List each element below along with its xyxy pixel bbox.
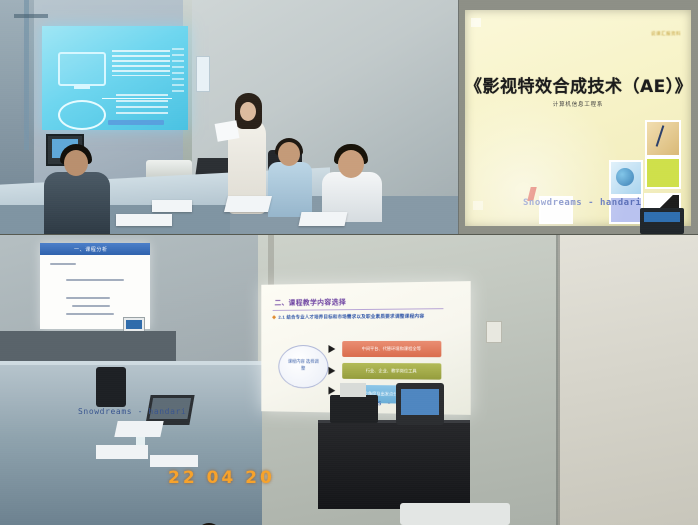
slide-side-text (172, 48, 184, 92)
projector-foreground (400, 503, 510, 525)
wall-right-lower (558, 235, 698, 525)
slide-line-1 (50, 263, 76, 265)
photo-collage: 说课汇报资料 《影视特效合成技术（AE）》 计算机信息工程系 Snowdream… (0, 0, 698, 525)
panel-divider-vertical (458, 0, 459, 235)
printer-device (330, 395, 378, 423)
person-man-white-head (338, 150, 364, 178)
magnifier-shape-icon (58, 100, 106, 130)
light-switch[interactable] (486, 321, 502, 343)
slide-line-5 (66, 313, 114, 315)
content-slide-circle-label: 课程内容 选择调整 (278, 345, 328, 389)
table-paper-6 (96, 445, 148, 459)
projection-screen-intro (42, 26, 188, 130)
crt-monitor-foreground (640, 208, 684, 234)
table-paper-4 (116, 214, 172, 226)
arrow-icon-3 (328, 387, 335, 395)
equipment-cabinet (318, 420, 470, 509)
wall-corner-edge (556, 235, 560, 525)
chair-lower-1 (96, 367, 126, 407)
slide-line-2 (66, 279, 124, 281)
slide-text-block-1 (112, 50, 170, 76)
monitor-diagram-icon (58, 52, 106, 86)
arrow-icon-1 (328, 345, 335, 353)
presenter-papers (215, 120, 240, 142)
content-slide-subheading: 2.1 结合专业人才培养目标和市场需求以及职业素质要求调整课程内容 (278, 313, 424, 320)
bullet-diamond-icon (272, 315, 276, 319)
person-man-back-body (44, 172, 110, 234)
table-paper-1 (224, 196, 272, 212)
person-presenter-face (240, 102, 256, 121)
panel-bottom: 一、课程分析 二、课程教学内容选择 2.1 结合专业人才培养目标和市场需求以及职… (0, 235, 698, 525)
slide-text-block-2 (116, 94, 168, 114)
slide-line-3 (66, 297, 110, 299)
arrow-icon-2 (328, 367, 335, 375)
circle-label-text: 课程内容 选择调整 (287, 358, 320, 372)
wall-strip (24, 0, 29, 150)
table-paper-7 (150, 455, 198, 467)
projected-watermark-lower: Snowdreams - handari (78, 407, 186, 416)
slide-line-4 (72, 305, 110, 307)
content-slide-heading: 二、课程教学内容选择 (275, 297, 347, 308)
projected-title-slide: 说课汇报资料 《影视特效合成技术（AE）》 计算机信息工程系 Snowdream… (465, 10, 691, 226)
date-stamp: 22 04 20 (168, 468, 275, 488)
table-paper-5 (114, 421, 163, 437)
wall-strip-horizontal (14, 14, 48, 18)
content-bar-2: 行业、企业、教学岗位工具 (342, 363, 441, 380)
panel-top-right: 说课汇报资料 《影视特效合成技术（AE）》 计算机信息工程系 Snowdream… (459, 0, 698, 234)
content-slide-rule (273, 308, 444, 311)
person-man-blue-body (268, 162, 312, 217)
content-bar-1: 中间平台、代替环境和课程全等 (342, 341, 441, 357)
wall-poster (196, 56, 210, 92)
table-paper-2 (299, 212, 348, 226)
slide-header-text: 一、课程分析 (74, 246, 108, 253)
projector-glare (465, 10, 691, 226)
panel-top-left (0, 0, 458, 234)
crt-monitor-lower (396, 383, 444, 425)
table-paper-3 (152, 200, 192, 212)
slide-watermark (108, 120, 164, 125)
person-man-blue-head (278, 142, 300, 166)
person-man-back-head (64, 150, 88, 176)
